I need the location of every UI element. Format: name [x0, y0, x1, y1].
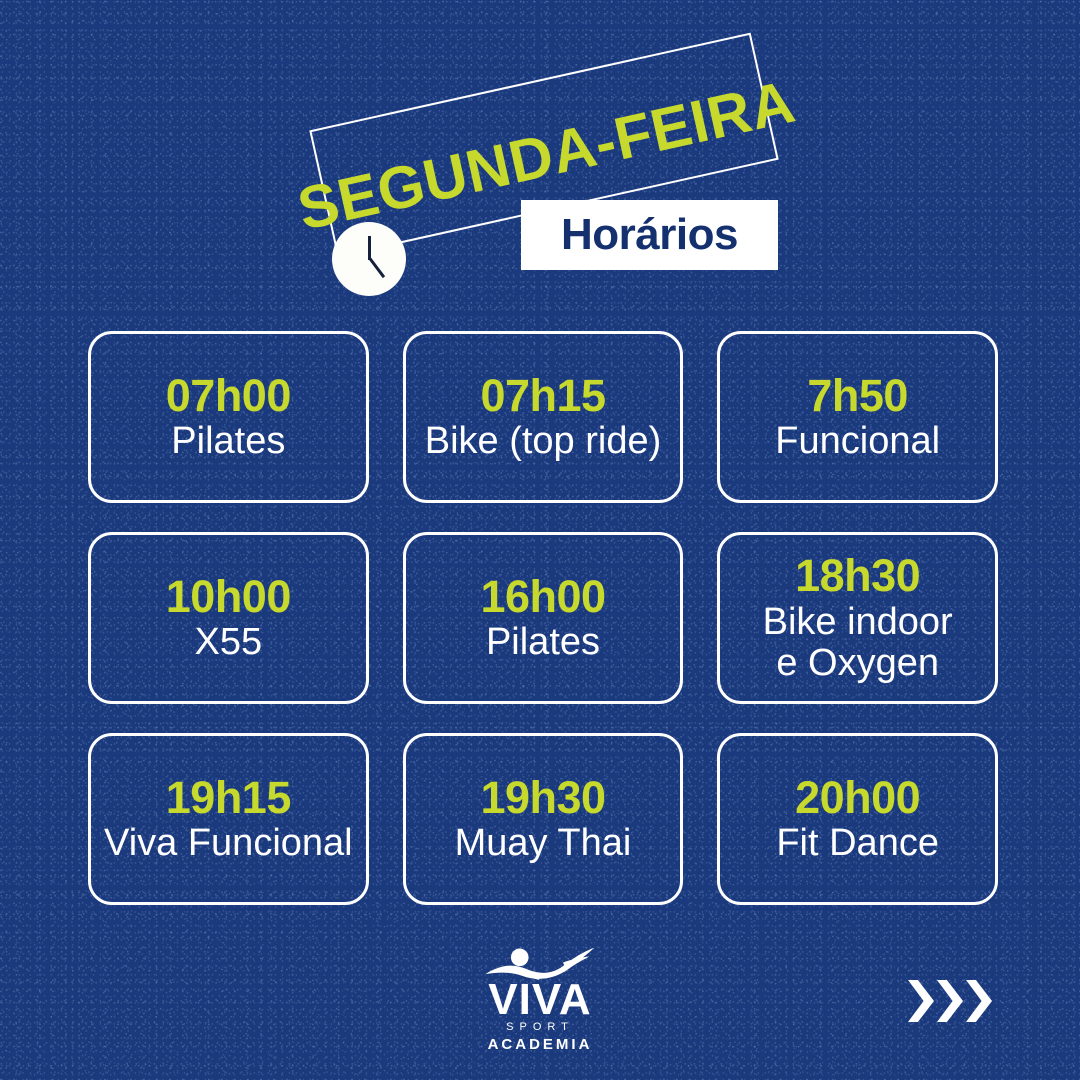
chevron-right-icon — [908, 980, 934, 1022]
schedule-card[interactable]: 07h15 Bike (top ride) — [403, 331, 684, 503]
schedule-card-class: Pilates — [171, 421, 285, 462]
schedule-poster: SEGUNDA-FEIRA Horários 07h00 Pilates 07h… — [0, 0, 1080, 1080]
logo-academia-label: ACADEMIA — [488, 1036, 593, 1053]
schedule-card-time: 18h30 — [795, 552, 920, 599]
schedule-card-time: 10h00 — [166, 573, 291, 620]
schedule-card-class: Bike (top ride) — [425, 421, 662, 462]
schedule-card[interactable]: 7h50 Funcional — [717, 331, 998, 503]
schedule-card[interactable]: 19h30 Muay Thai — [403, 733, 684, 905]
schedule-card[interactable]: 10h00 X55 — [88, 532, 369, 704]
schedule-card[interactable]: 19h15 Viva Funcional — [88, 733, 369, 905]
clock-icon — [332, 222, 406, 296]
schedule-card-class: Muay Thai — [455, 823, 632, 864]
schedule-card-time: 20h00 — [795, 774, 920, 821]
schedule-card[interactable]: 07h00 Pilates — [88, 331, 369, 503]
clock-minute-hand — [368, 257, 385, 278]
schedule-card-class: Viva Funcional — [104, 823, 353, 864]
schedule-card-time: 07h00 — [166, 372, 291, 419]
schedule-card-class: Bike indoor e Oxygen — [763, 602, 953, 684]
triple-chevron-right-icon[interactable] — [908, 980, 992, 1022]
schedule-card-time: 16h00 — [480, 573, 605, 620]
logo-wordmark: VIVA — [488, 980, 591, 1020]
schedule-card-time: 07h15 — [480, 372, 605, 419]
schedule-card[interactable]: 18h30 Bike indoor e Oxygen — [717, 532, 998, 704]
schedule-card-time: 7h50 — [807, 372, 908, 419]
schedule-card-class: X55 — [195, 622, 263, 663]
schedule-card[interactable]: 16h00 Pilates — [403, 532, 684, 704]
schedule-title-panel: Horários — [521, 200, 778, 270]
schedule-card-class: Pilates — [486, 622, 600, 663]
schedule-card-class: Funcional — [775, 421, 940, 462]
schedule-card-time: 19h30 — [480, 774, 605, 821]
schedule-card-class: Fit Dance — [776, 823, 939, 864]
schedule-card[interactable]: 20h00 Fit Dance — [717, 733, 998, 905]
chevron-right-icon — [966, 980, 992, 1022]
chevron-right-icon — [937, 980, 963, 1022]
page-title: Horários — [561, 210, 738, 260]
poster-header: SEGUNDA-FEIRA Horários — [0, 0, 1080, 320]
logo-sport-label: SPORT — [506, 1021, 574, 1033]
schedule-grid: 07h00 Pilates 07h15 Bike (top ride) 7h50… — [88, 331, 998, 905]
brand-logo: VIVA SPORT ACADEMIA — [462, 945, 618, 1053]
schedule-card-time: 19h15 — [166, 774, 291, 821]
